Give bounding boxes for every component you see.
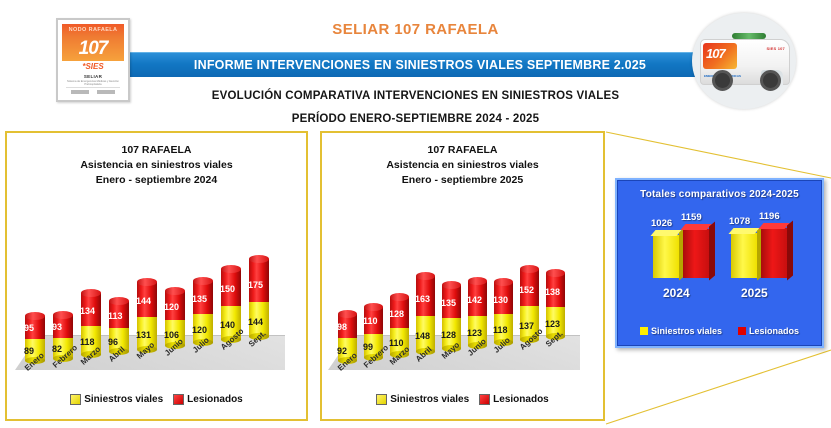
chart-panel-2024: 107 RAFAELA Asistencia en siniestros via… xyxy=(5,131,308,421)
logo-inner: NODO RAFAELA 107 *SIES SELIAR Sistema de… xyxy=(62,24,124,96)
chart-2024-title: 107 RAFAELA xyxy=(7,143,306,158)
legend-item-siniestros: Siniestros viales xyxy=(640,326,722,336)
value-label-lesionados: 120 xyxy=(164,303,179,312)
value-label-lesionados: 128 xyxy=(389,310,404,319)
value-label-lesionados: 152 xyxy=(519,286,534,295)
legend-swatch-red-icon xyxy=(738,327,746,335)
banner-text: INFORME INTERVENCIONES EN SINIESTROS VIA… xyxy=(194,58,646,72)
logo-number: 107 xyxy=(79,39,108,58)
chart-2025-plot: 9892Enero11099Febrero128110Marzo163148Ab… xyxy=(322,193,603,393)
value-label-siniestros: 118 xyxy=(493,326,508,335)
value-label-siniestros: 92 xyxy=(337,347,347,356)
value-label-siniestros: 137 xyxy=(519,322,534,331)
totals-title: Totales comparativos 2024-2025 xyxy=(617,189,822,200)
totals-value-label: 1078 xyxy=(729,216,750,227)
totals-year-label-2024: 2024 xyxy=(663,286,690,300)
report-banner: INFORME INTERVENCIONES EN SINIESTROS VIA… xyxy=(130,52,710,77)
legend-label-lesionados: Lesionados xyxy=(187,394,243,405)
value-label-lesionados: 135 xyxy=(441,299,456,308)
totals-legend: Siniestros viales Lesionados xyxy=(617,326,822,336)
value-label-lesionados: 150 xyxy=(220,285,235,294)
ambulance-red-text: SIES 107 xyxy=(766,46,785,51)
value-label-lesionados: 110 xyxy=(363,317,378,326)
legend-label-lesionados: Lesionados xyxy=(749,326,799,336)
legend-swatch-yellow-icon xyxy=(640,327,648,335)
chart-2024-title-block: 107 RAFAELA Asistencia en siniestros via… xyxy=(7,143,306,188)
chart-2025-subtitle: Asistencia en siniestros viales xyxy=(322,158,603,173)
chart-2025-title: 107 RAFAELA xyxy=(322,143,603,158)
value-label-lesionados: 113 xyxy=(108,312,123,321)
chart-2025-period: Enero - septiembre 2025 xyxy=(322,173,603,188)
totals-bar-2025-siniestros xyxy=(731,233,757,278)
logo-top-band: NODO RAFAELA xyxy=(62,24,124,36)
value-label-lesionados: 134 xyxy=(80,307,95,316)
ambulance-photo: 107 SIES 107 EMERGENCIAS MEDICAS xyxy=(692,13,796,109)
logo-footer-marks xyxy=(66,87,119,96)
value-label-lesionados: 93 xyxy=(52,323,62,332)
legend-swatch-red-icon xyxy=(173,394,184,405)
chart-2024-period: Enero - septiembre 2024 xyxy=(7,173,306,188)
logo-number-block: 107 xyxy=(62,36,124,61)
legend-swatch-yellow-icon xyxy=(70,394,81,405)
totals-value-label: 1196 xyxy=(759,211,780,222)
legend-label-siniestros: Siniestros viales xyxy=(390,394,469,405)
legend-label-siniestros: Siniestros viales xyxy=(84,394,163,405)
legend-item-lesionados: Lesionados xyxy=(173,394,243,405)
totals-plot: 102611592024107811962025 xyxy=(617,206,822,312)
chart-2025-title-block: 107 RAFAELA Asistencia en siniestros via… xyxy=(322,143,603,188)
value-label-siniestros: 148 xyxy=(415,332,430,341)
totals-bar-2024-lesionados xyxy=(683,229,709,278)
value-label-siniestros: 123 xyxy=(545,320,560,329)
totals-value-label: 1026 xyxy=(651,218,672,229)
value-label-lesionados: 98 xyxy=(337,323,347,332)
value-label-siniestros: 99 xyxy=(363,343,373,352)
value-label-lesionados: 175 xyxy=(248,281,263,290)
value-label-lesionados: 144 xyxy=(136,297,151,306)
value-label-lesionados: 95 xyxy=(24,324,34,333)
value-label-siniestros: 96 xyxy=(108,338,118,347)
value-label-siniestros: 118 xyxy=(80,338,95,347)
legend-label-siniestros: Siniestros viales xyxy=(651,326,722,336)
totals-bar-2024-siniestros xyxy=(653,235,679,278)
value-label-lesionados: 135 xyxy=(192,295,207,304)
ambulance-wheel-rear xyxy=(712,70,733,91)
totals-panel: Totales comparativos 2024-2025 102611592… xyxy=(615,178,824,348)
ambulance-stripe: 107 xyxy=(703,43,737,69)
value-label-siniestros: 131 xyxy=(136,331,151,340)
legend-item-lesionados: Lesionados xyxy=(479,394,549,405)
value-label-siniestros: 123 xyxy=(467,329,482,338)
value-label-siniestros: 120 xyxy=(192,326,207,335)
value-label-lesionados: 163 xyxy=(415,295,430,304)
value-label-lesionados: 130 xyxy=(493,296,508,305)
legend-label-lesionados: Lesionados xyxy=(493,394,549,405)
chart-2024-legend: Siniestros viales Lesionados xyxy=(7,394,306,405)
seliar-logo: NODO RAFAELA 107 *SIES SELIAR Sistema de… xyxy=(56,18,130,102)
chart-panel-2025: 107 RAFAELA Asistencia en siniestros via… xyxy=(320,131,605,421)
ambulance-side-number: 107 xyxy=(706,47,725,60)
logo-seliar-text: SELIAR xyxy=(84,74,102,79)
value-label-siniestros: 89 xyxy=(24,347,34,356)
logo-fine-print: Sistema de Emergencias Médicas y Atenció… xyxy=(65,80,121,88)
chart-2025-legend: Siniestros viales Lesionados xyxy=(322,394,603,405)
totals-bar-2025-lesionados xyxy=(761,228,787,278)
legend-item-siniestros: Siniestros viales xyxy=(70,394,163,405)
legend-item-siniestros: Siniestros viales xyxy=(376,394,469,405)
logo-sies-text: *SIES xyxy=(62,61,124,72)
value-label-siniestros: 140 xyxy=(220,321,235,330)
report-page: SELIAR 107 RAFAELA INFORME INTERVENCIONE… xyxy=(0,0,831,428)
value-label-lesionados: 138 xyxy=(545,288,560,297)
chart-2024-subtitle: Asistencia en siniestros viales xyxy=(7,158,306,173)
legend-item-lesionados: Lesionados xyxy=(738,326,799,336)
legend-swatch-red-icon xyxy=(479,394,490,405)
value-label-siniestros: 128 xyxy=(441,331,456,340)
subtitle-period: PERÍODO ENERO-SEPTIEMBRE 2024 - 2025 xyxy=(0,113,831,125)
legend-swatch-yellow-icon xyxy=(376,394,387,405)
value-label-lesionados: 142 xyxy=(467,296,482,305)
value-label-siniestros: 144 xyxy=(248,318,263,327)
totals-value-label: 1159 xyxy=(681,212,702,223)
ambulance-wheel-front xyxy=(760,70,781,91)
totals-year-label-2025: 2025 xyxy=(741,286,768,300)
chart-2024-plot: 9589Enero9382Febrero134118Marzo11396Abri… xyxy=(7,193,306,393)
